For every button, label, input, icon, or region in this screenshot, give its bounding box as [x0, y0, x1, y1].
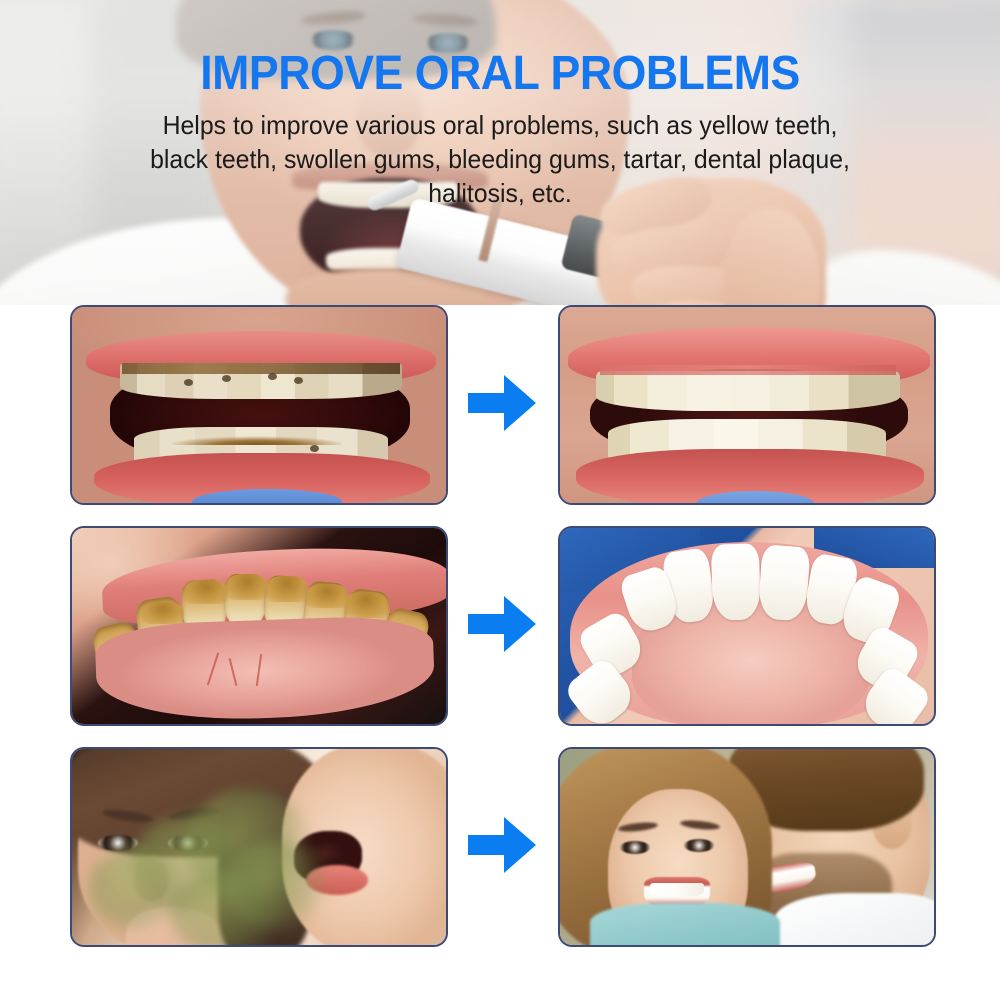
bad-breath-fume	[88, 847, 184, 933]
heavy-tartar-lower-teeth-before	[70, 526, 448, 726]
transformation-arrow	[464, 588, 540, 660]
subcopy-line-1: Helps to improve various oral problems, …	[61, 108, 940, 142]
transformation-arrow	[464, 367, 540, 439]
subcopy-line-3: halitosis, etc.	[61, 176, 940, 210]
stained-teeth-with-tartar-before	[70, 305, 448, 505]
product-infographic-page: IMPROVE ORAL PROBLEMS Helps to improve v…	[0, 0, 1000, 1000]
before-after-grid	[0, 305, 1000, 1000]
calculus-deposit	[306, 584, 348, 608]
tartar-upper	[122, 363, 400, 374]
gumline	[600, 365, 896, 375]
comparison-row-1	[0, 305, 1000, 513]
stain-spot	[294, 377, 303, 384]
bad-breath-halitosis-before	[70, 747, 448, 947]
page-title: IMPROVE ORAL PROBLEMS	[35, 46, 965, 101]
calculus-deposit	[142, 602, 184, 624]
calculus-deposit	[226, 574, 268, 600]
stain-spot	[310, 445, 319, 452]
stain-spot	[268, 373, 277, 380]
transformation-arrow	[464, 809, 540, 881]
calculus-deposit	[344, 592, 388, 618]
upper-teeth-clean	[596, 371, 900, 411]
tartar-lower	[172, 429, 342, 445]
stain-spot	[222, 375, 231, 382]
comparison-row-2	[0, 526, 1000, 734]
arrow-right-icon	[464, 809, 540, 881]
calculus-deposit	[266, 576, 308, 602]
arrow-right-icon	[464, 367, 540, 439]
calculus-deposit	[184, 580, 228, 604]
woman-teal-top	[590, 903, 780, 947]
stain-spot	[184, 379, 193, 386]
arrow-right-icon	[464, 588, 540, 660]
comparison-row-3	[0, 747, 1000, 955]
woman-white-teeth	[650, 883, 704, 897]
hero-subcopy: Helps to improve various oral problems, …	[61, 108, 940, 210]
subcopy-line-2: black teeth, swollen gums, bleeding gums…	[61, 142, 940, 176]
clean-teeth-after	[558, 305, 936, 505]
happy-couple-smiling-after	[558, 747, 936, 947]
man-white-shirt	[774, 893, 936, 947]
eye-left	[620, 841, 650, 854]
clean-white-teeth-healthy-gums-after	[558, 526, 936, 726]
bad-breath-fume	[168, 871, 288, 947]
hero-banner: IMPROVE ORAL PROBLEMS Helps to improve v…	[0, 0, 1000, 305]
eye-right	[684, 839, 714, 852]
white-tooth	[711, 543, 762, 621]
